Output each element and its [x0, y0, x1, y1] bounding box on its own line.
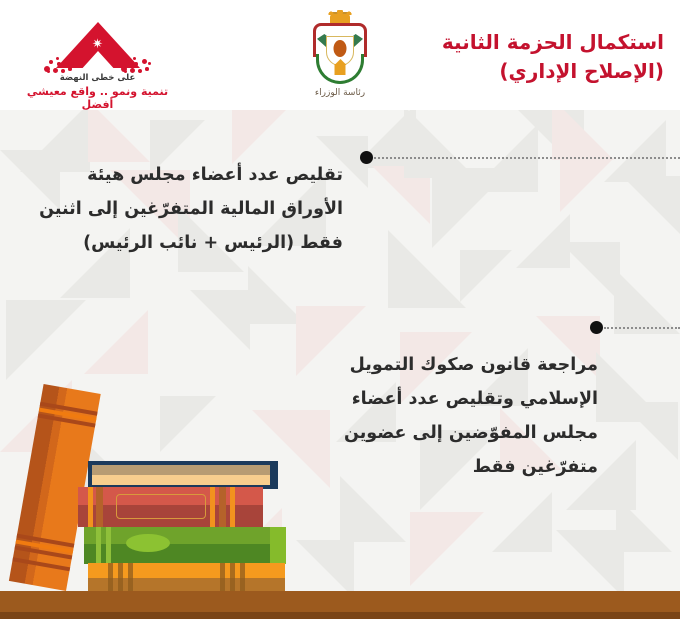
background-triangle: [560, 158, 614, 212]
infographic-page: تقليص عدد أعضاء مجلس هيئة الأوراق المالي…: [0, 0, 680, 619]
dot-spray-right-icon: [121, 56, 151, 72]
page-header: ✷ على خطى النهضة تنمية ونمو .. واقع معيش…: [0, 0, 680, 110]
page-title: استكمال الحزمة الثانية (الإصلاح الإداري): [442, 28, 664, 86]
nahda-subtitle: على خطى النهضة: [10, 73, 185, 83]
background-triangle: [614, 268, 680, 334]
coat-of-arms-caption: رئاسة الوزراء: [300, 88, 380, 98]
background-triangle: [460, 250, 512, 302]
background-triangle: [516, 214, 570, 268]
stack-of-books-illustration: [0, 389, 330, 619]
green-book: [84, 527, 286, 564]
background-triangle: [560, 242, 620, 302]
background-triangle: [388, 230, 466, 308]
background-triangle: [556, 530, 624, 598]
content-item-1: تقليص عدد أعضاء مجلس هيئة الأوراق المالي…: [23, 158, 343, 260]
coat-of-arms-icon: [311, 14, 369, 86]
page-title-line-2: (الإصلاح الإداري): [442, 57, 664, 86]
background-triangle: [340, 476, 406, 542]
bullet-dot-1: [360, 151, 373, 164]
background-triangle: [410, 512, 484, 586]
orange-book: [88, 563, 285, 591]
background-triangle: [190, 290, 250, 350]
connector-line-2: [604, 327, 680, 330]
red-book: [78, 487, 263, 527]
jordan-coat-of-arms: رئاسة الوزراء: [300, 14, 380, 106]
nahda-logo: ✷ على خطى النهضة تنمية ونمو .. واقع معيش…: [10, 20, 185, 102]
page-title-line-1: استكمال الحزمة الثانية: [442, 28, 664, 57]
background-triangle: [404, 110, 476, 178]
connector-line-1: [374, 157, 680, 160]
background-triangle: [84, 310, 148, 374]
background-triangle: [604, 120, 666, 182]
background-triangle: [6, 300, 86, 380]
navy-book: [88, 461, 278, 489]
star-icon: ✷: [92, 38, 103, 51]
background-triangle: [88, 110, 150, 162]
nahda-chevron-icon: ✷: [10, 20, 185, 72]
dot-spray-left-icon: [44, 56, 74, 72]
bullet-dot-2: [590, 321, 603, 334]
background-triangle: [232, 110, 290, 164]
content-item-2: مراجعة قانون صكوك التمويل الإسلامي وتقلي…: [318, 348, 598, 485]
nahda-tagline: تنمية ونمو .. واقع معيشي أفضل: [10, 85, 185, 111]
background-triangle: [492, 492, 552, 552]
background-triangle: [622, 176, 680, 234]
